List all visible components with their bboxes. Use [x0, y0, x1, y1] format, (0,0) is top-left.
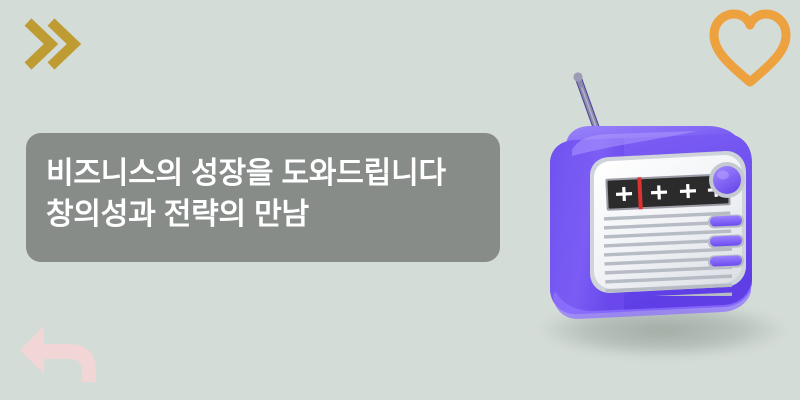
radio-illustration: [520, 30, 800, 360]
radio-button-2: [708, 234, 745, 249]
radio-buttons: [708, 214, 745, 269]
headline-panel: 비즈니스의 성장을 도와드립니다 창의성과 전략의 만남: [26, 133, 500, 262]
radio-button-1: [708, 214, 745, 229]
radio-tuning-knob: [709, 162, 745, 198]
radio-button-3: [708, 254, 745, 269]
double-chevron-right-icon: [22, 14, 82, 74]
headline-line-1: 비즈니스의 성장을 도와드립니다: [46, 153, 476, 194]
headline-line-2: 창의성과 전략의 만남: [46, 194, 476, 235]
radio-tuner-marker: [639, 177, 640, 209]
reply-arrow-icon: [10, 320, 102, 386]
promo-banner: 비즈니스의 성장을 도와드립니다 창의성과 전략의 만남: [0, 0, 800, 400]
